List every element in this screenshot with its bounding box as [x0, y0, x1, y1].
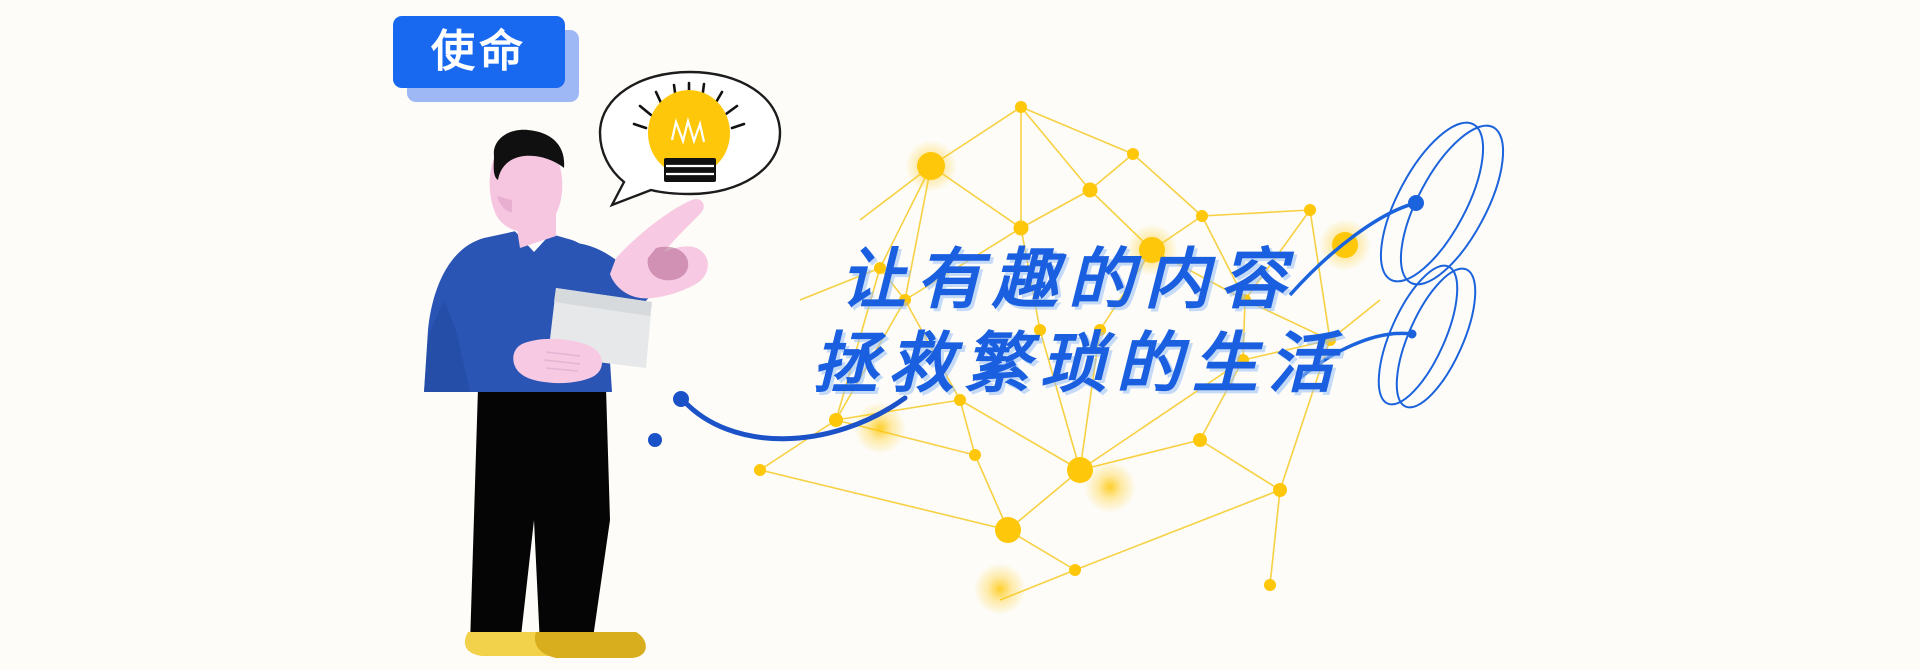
- mission-banner: 让有趣的内容 拯救繁琐的生活 使命: [0, 0, 1920, 670]
- mission-badge-plate: 使命: [393, 16, 565, 88]
- lightbulb-base: [664, 158, 716, 182]
- idea-speech-bubble: [0, 0, 1920, 670]
- mission-badge: 使命: [393, 16, 583, 106]
- mission-badge-label: 使命: [431, 30, 527, 74]
